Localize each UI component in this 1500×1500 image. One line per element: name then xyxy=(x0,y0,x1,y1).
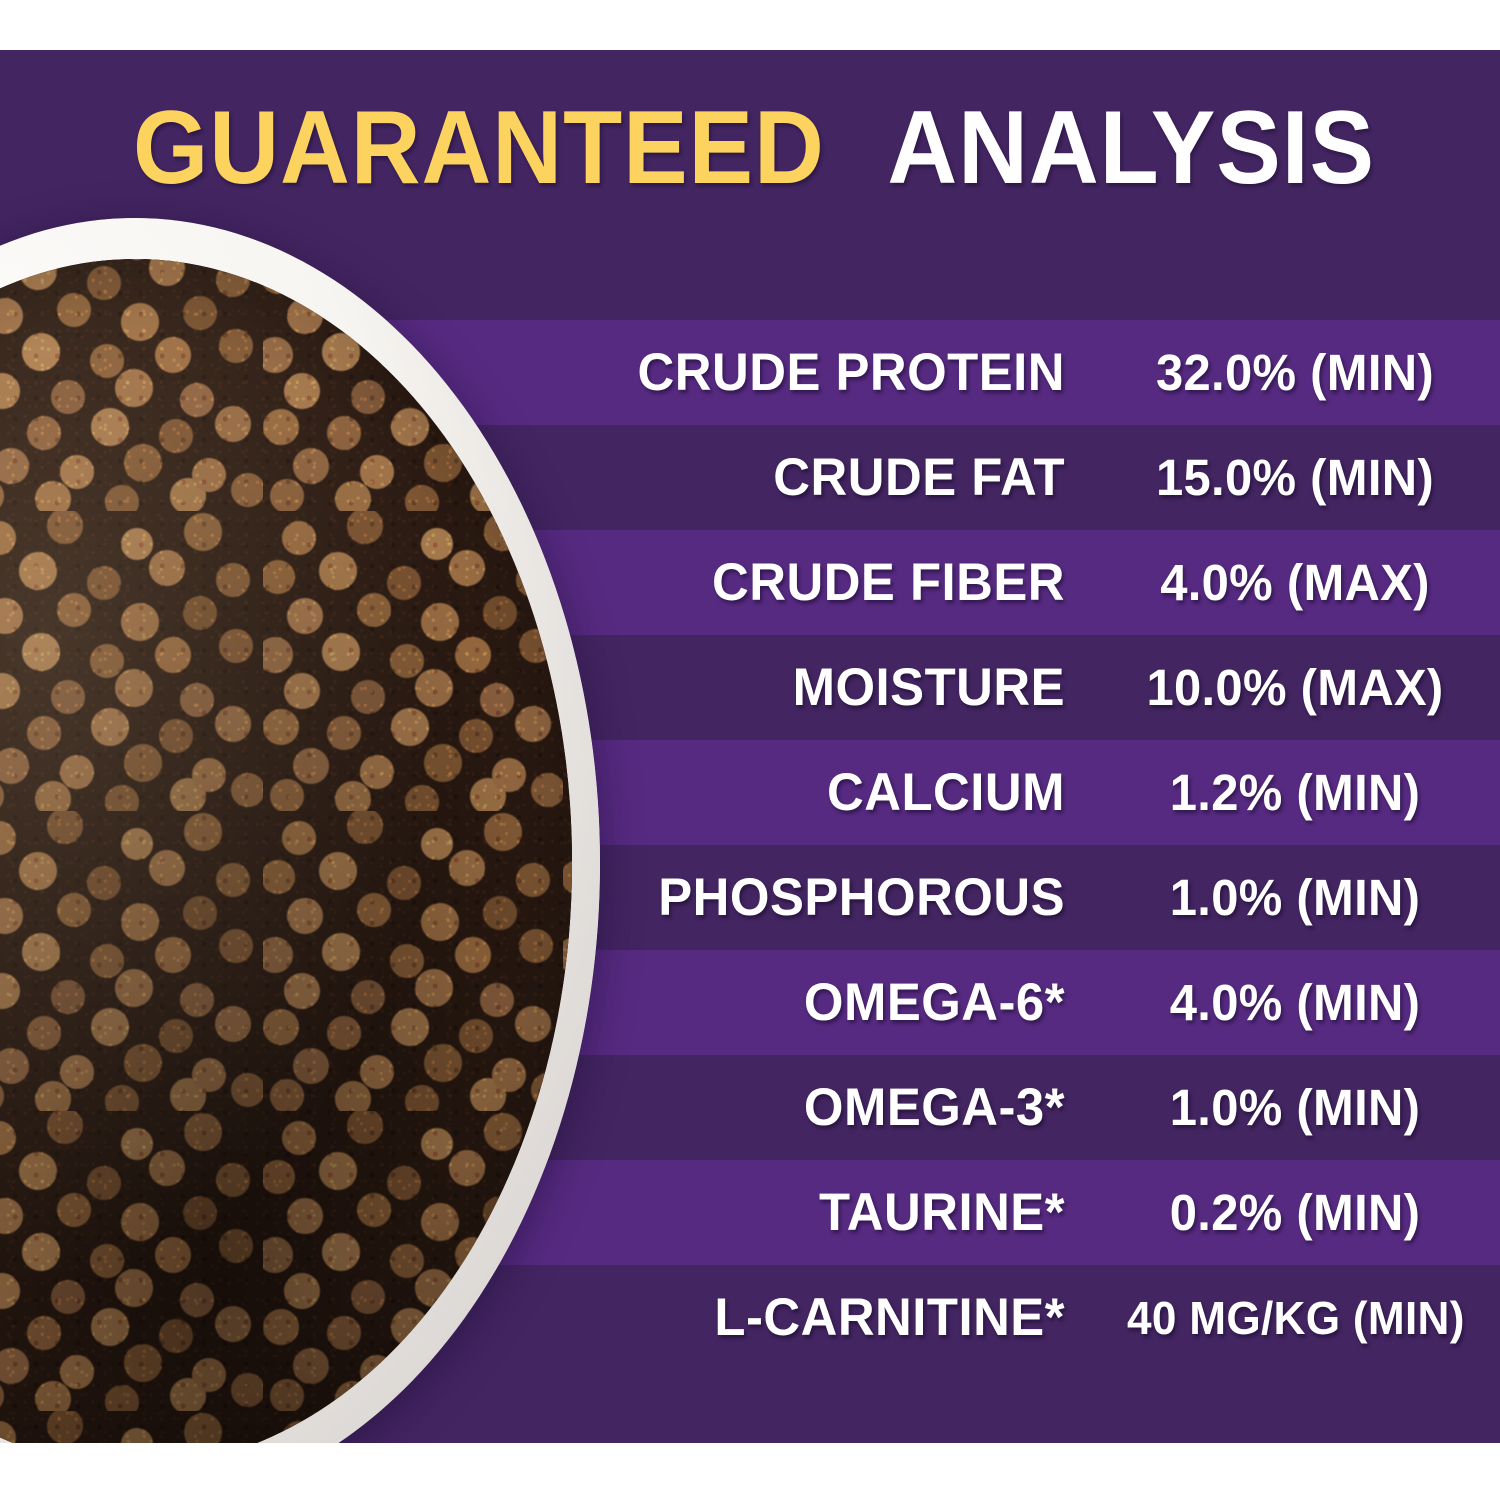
nutrient-label: TAURINE* xyxy=(580,1182,1065,1243)
nutrient-value: 1.2% (MIN) xyxy=(1127,763,1463,822)
nutrient-label: CRUDE PROTEIN xyxy=(580,342,1065,403)
purple-background-panel: GUARANTEEDANALYSIS CRUDE PROTEIN32.0% (M… xyxy=(0,50,1500,1443)
kibble-bowl-image xyxy=(0,218,600,1443)
nutrient-label: CALCIUM xyxy=(580,762,1065,823)
nutrient-label: OMEGA-3* xyxy=(580,1077,1065,1138)
nutrient-label: MOISTURE xyxy=(580,657,1065,718)
nutrient-value: 4.0% (MIN) xyxy=(1127,973,1463,1032)
title-word-analysis: ANALYSIS xyxy=(887,96,1375,200)
nutrient-value: 1.0% (MIN) xyxy=(1127,1078,1463,1137)
nutrient-value: 10.0% (MAX) xyxy=(1127,658,1463,717)
guaranteed-analysis-panel: GUARANTEEDANALYSIS CRUDE PROTEIN32.0% (M… xyxy=(0,0,1500,1500)
nutrient-value: 0.2% (MIN) xyxy=(1127,1183,1463,1242)
nutrient-value: 4.0% (MAX) xyxy=(1127,553,1463,612)
nutrient-label: PHOSPHOROUS xyxy=(580,867,1065,928)
nutrient-value: 40 MG/KG (MIN) xyxy=(1127,1291,1463,1345)
nutrient-value: 32.0% (MIN) xyxy=(1127,343,1463,402)
nutrient-label: CRUDE FAT xyxy=(580,447,1065,508)
nutrient-label: L-CARNITINE* xyxy=(580,1287,1065,1348)
nutrient-value: 15.0% (MIN) xyxy=(1127,448,1463,507)
page-title: GUARANTEEDANALYSIS xyxy=(0,96,1500,200)
bowl-interior xyxy=(0,259,572,1443)
nutrient-label: OMEGA-6* xyxy=(580,972,1065,1033)
nutrient-label: CRUDE FIBER xyxy=(580,552,1065,613)
title-word-guaranteed: GUARANTEED xyxy=(133,96,825,200)
nutrient-value: 1.0% (MIN) xyxy=(1127,868,1463,927)
